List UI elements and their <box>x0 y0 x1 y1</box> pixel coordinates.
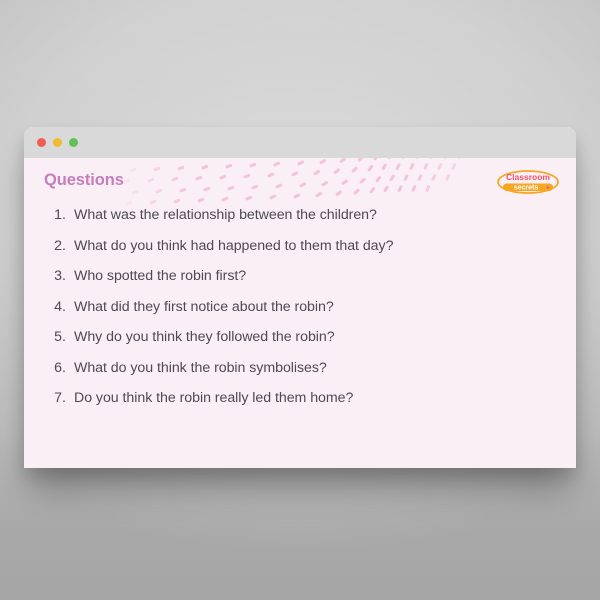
question-text: What do you think the robin symbolises? <box>74 360 327 376</box>
question-number: 5. <box>44 329 66 345</box>
question-number: 7. <box>44 390 66 406</box>
maximize-window-button[interactable] <box>69 138 78 147</box>
slide-content: Questions Classroom secrets + 1. What wa… <box>24 158 576 468</box>
page-title: Questions <box>44 171 124 190</box>
question-number: 3. <box>44 268 66 284</box>
question-text: What did they first notice about the rob… <box>74 299 334 315</box>
classroom-secrets-logo: Classroom secrets + <box>496 169 560 195</box>
list-item: 2. What do you think had happened to the… <box>24 238 576 254</box>
list-item: 5. Why do you think they followed the ro… <box>24 329 576 345</box>
question-number: 4. <box>44 299 66 315</box>
question-text: What do you think had happened to them t… <box>74 238 393 254</box>
window-titlebar[interactable] <box>24 127 576 158</box>
list-item: 4. What did they first notice about the … <box>24 299 576 315</box>
question-text: Who spotted the robin first? <box>74 268 246 284</box>
question-number: 1. <box>44 207 66 223</box>
question-number: 2. <box>44 238 66 254</box>
logo-line1: Classroom <box>506 172 550 182</box>
questions-list: 1. What was the relationship between the… <box>24 207 576 406</box>
close-window-button[interactable] <box>37 138 46 147</box>
browser-window: Questions Classroom secrets + 1. What wa… <box>24 127 576 468</box>
question-text: Why do you think they followed the robin… <box>74 329 335 345</box>
question-text: What was the relationship between the ch… <box>74 207 377 223</box>
logo-star-icon: + <box>546 183 551 192</box>
list-item: 1. What was the relationship between the… <box>24 207 576 223</box>
question-text: Do you think the robin really led them h… <box>74 390 353 406</box>
list-item: 3. Who spotted the robin first? <box>24 268 576 284</box>
list-item: 6. What do you think the robin symbolise… <box>24 360 576 376</box>
slide-header: Questions Classroom secrets + <box>24 158 576 195</box>
question-number: 6. <box>44 360 66 376</box>
list-item: 7. Do you think the robin really led the… <box>24 390 576 406</box>
minimize-window-button[interactable] <box>53 138 62 147</box>
logo-line2: secrets <box>514 185 539 192</box>
